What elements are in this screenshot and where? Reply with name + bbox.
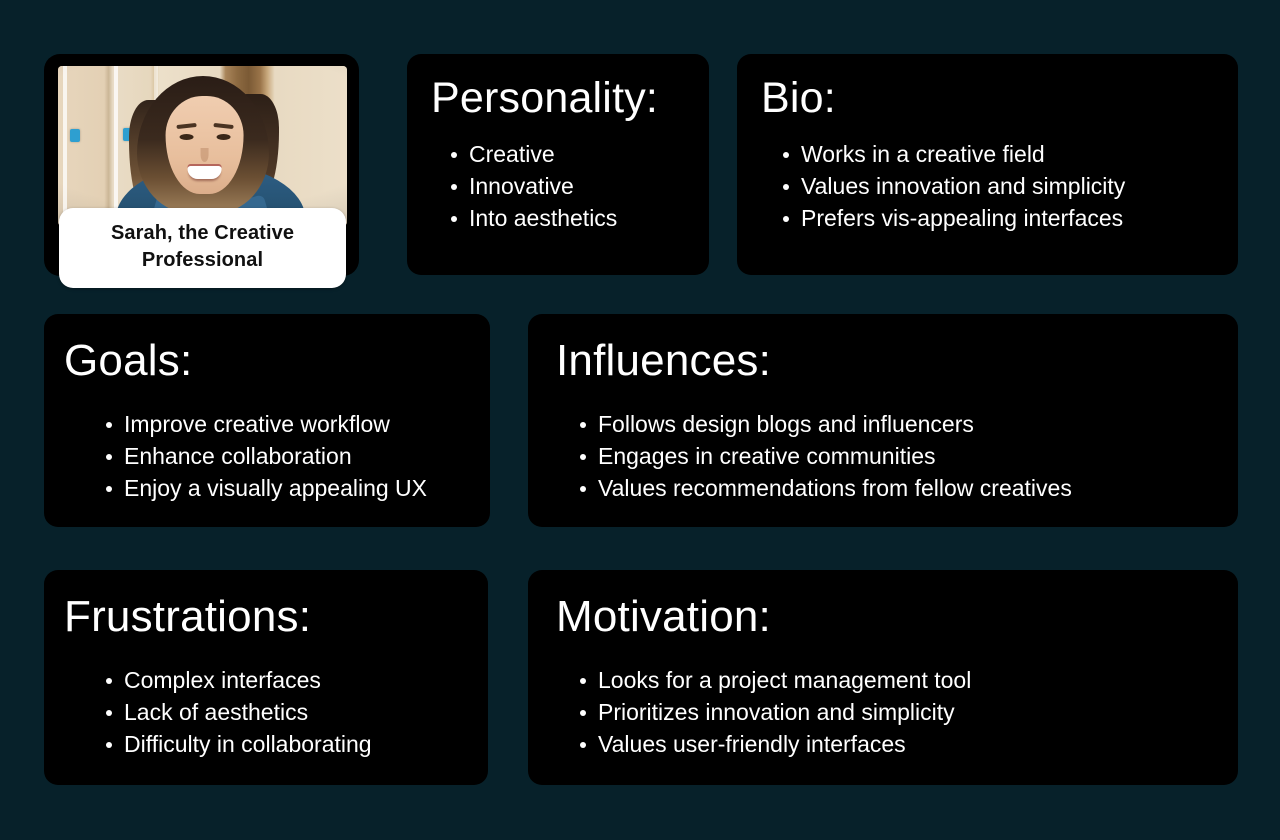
frustrations-list: Complex interfaces Lack of aesthetics Di… — [102, 664, 488, 760]
portrait-eyebrow-left — [176, 123, 196, 129]
influences-list: Follows design blogs and influencers Eng… — [576, 408, 1238, 504]
list-item: Enjoy a visually appealing UX — [102, 472, 490, 504]
list-item: Innovative — [447, 170, 709, 202]
list-item: Works in a creative field — [779, 138, 1238, 170]
personality-list: Creative Innovative Into aesthetics — [447, 138, 709, 234]
list-item: Engages in creative communities — [576, 440, 1238, 472]
photo-background-clamp — [70, 129, 80, 142]
motivation-heading: Motivation: — [528, 570, 1238, 642]
motivation-card: Motivation: Looks for a project manageme… — [528, 570, 1238, 785]
portrait-eyebrow-right — [213, 123, 233, 129]
frustrations-heading: Frustrations: — [44, 570, 488, 642]
goals-list: Improve creative workflow Enhance collab… — [102, 408, 490, 504]
list-item: Values user-friendly interfaces — [576, 728, 1238, 760]
list-item: Enhance collaboration — [102, 440, 490, 472]
persona-board: Sarah, the Creative Professional Persona… — [0, 0, 1280, 840]
profile-card: Sarah, the Creative Professional — [44, 54, 359, 276]
photo-background-rail — [114, 66, 118, 226]
photo-background-rail — [63, 66, 67, 226]
profile-photo-frame — [58, 66, 347, 226]
list-item: Values innovation and simplicity — [779, 170, 1238, 202]
list-item: Prioritizes innovation and simplicity — [576, 696, 1238, 728]
frustrations-card: Frustrations: Complex interfaces Lack of… — [44, 570, 488, 785]
portrait-eye-left — [179, 134, 193, 140]
list-item: Into aesthetics — [447, 202, 709, 234]
influences-heading: Influences: — [528, 314, 1238, 386]
portrait-smile — [187, 166, 221, 179]
goals-card: Goals: Improve creative workflow Enhance… — [44, 314, 490, 527]
bio-list: Works in a creative field Values innovat… — [779, 138, 1238, 234]
list-item: Creative — [447, 138, 709, 170]
list-item: Looks for a project management tool — [576, 664, 1238, 696]
list-item: Complex interfaces — [102, 664, 488, 696]
list-item: Prefers vis-appealing interfaces — [779, 202, 1238, 234]
list-item: Improve creative workflow — [102, 408, 490, 440]
personality-heading: Personality: — [407, 54, 709, 122]
list-item: Lack of aesthetics — [102, 696, 488, 728]
influences-card: Influences: Follows design blogs and inf… — [528, 314, 1238, 527]
portrait-face — [165, 96, 243, 194]
motivation-list: Looks for a project management tool Prio… — [576, 664, 1238, 760]
portrait-nose — [200, 148, 208, 162]
goals-heading: Goals: — [44, 314, 490, 386]
persona-name-label: Sarah, the Creative Professional — [59, 208, 346, 288]
list-item: Follows design blogs and influencers — [576, 408, 1238, 440]
bio-card: Bio: Works in a creative field Values in… — [737, 54, 1238, 275]
list-item: Difficulty in collaborating — [102, 728, 488, 760]
portrait-eye-right — [216, 134, 230, 140]
profile-photo — [58, 66, 347, 226]
list-item: Values recommendations from fellow creat… — [576, 472, 1238, 504]
bio-heading: Bio: — [737, 54, 1238, 122]
personality-card: Personality: Creative Innovative Into ae… — [407, 54, 709, 275]
